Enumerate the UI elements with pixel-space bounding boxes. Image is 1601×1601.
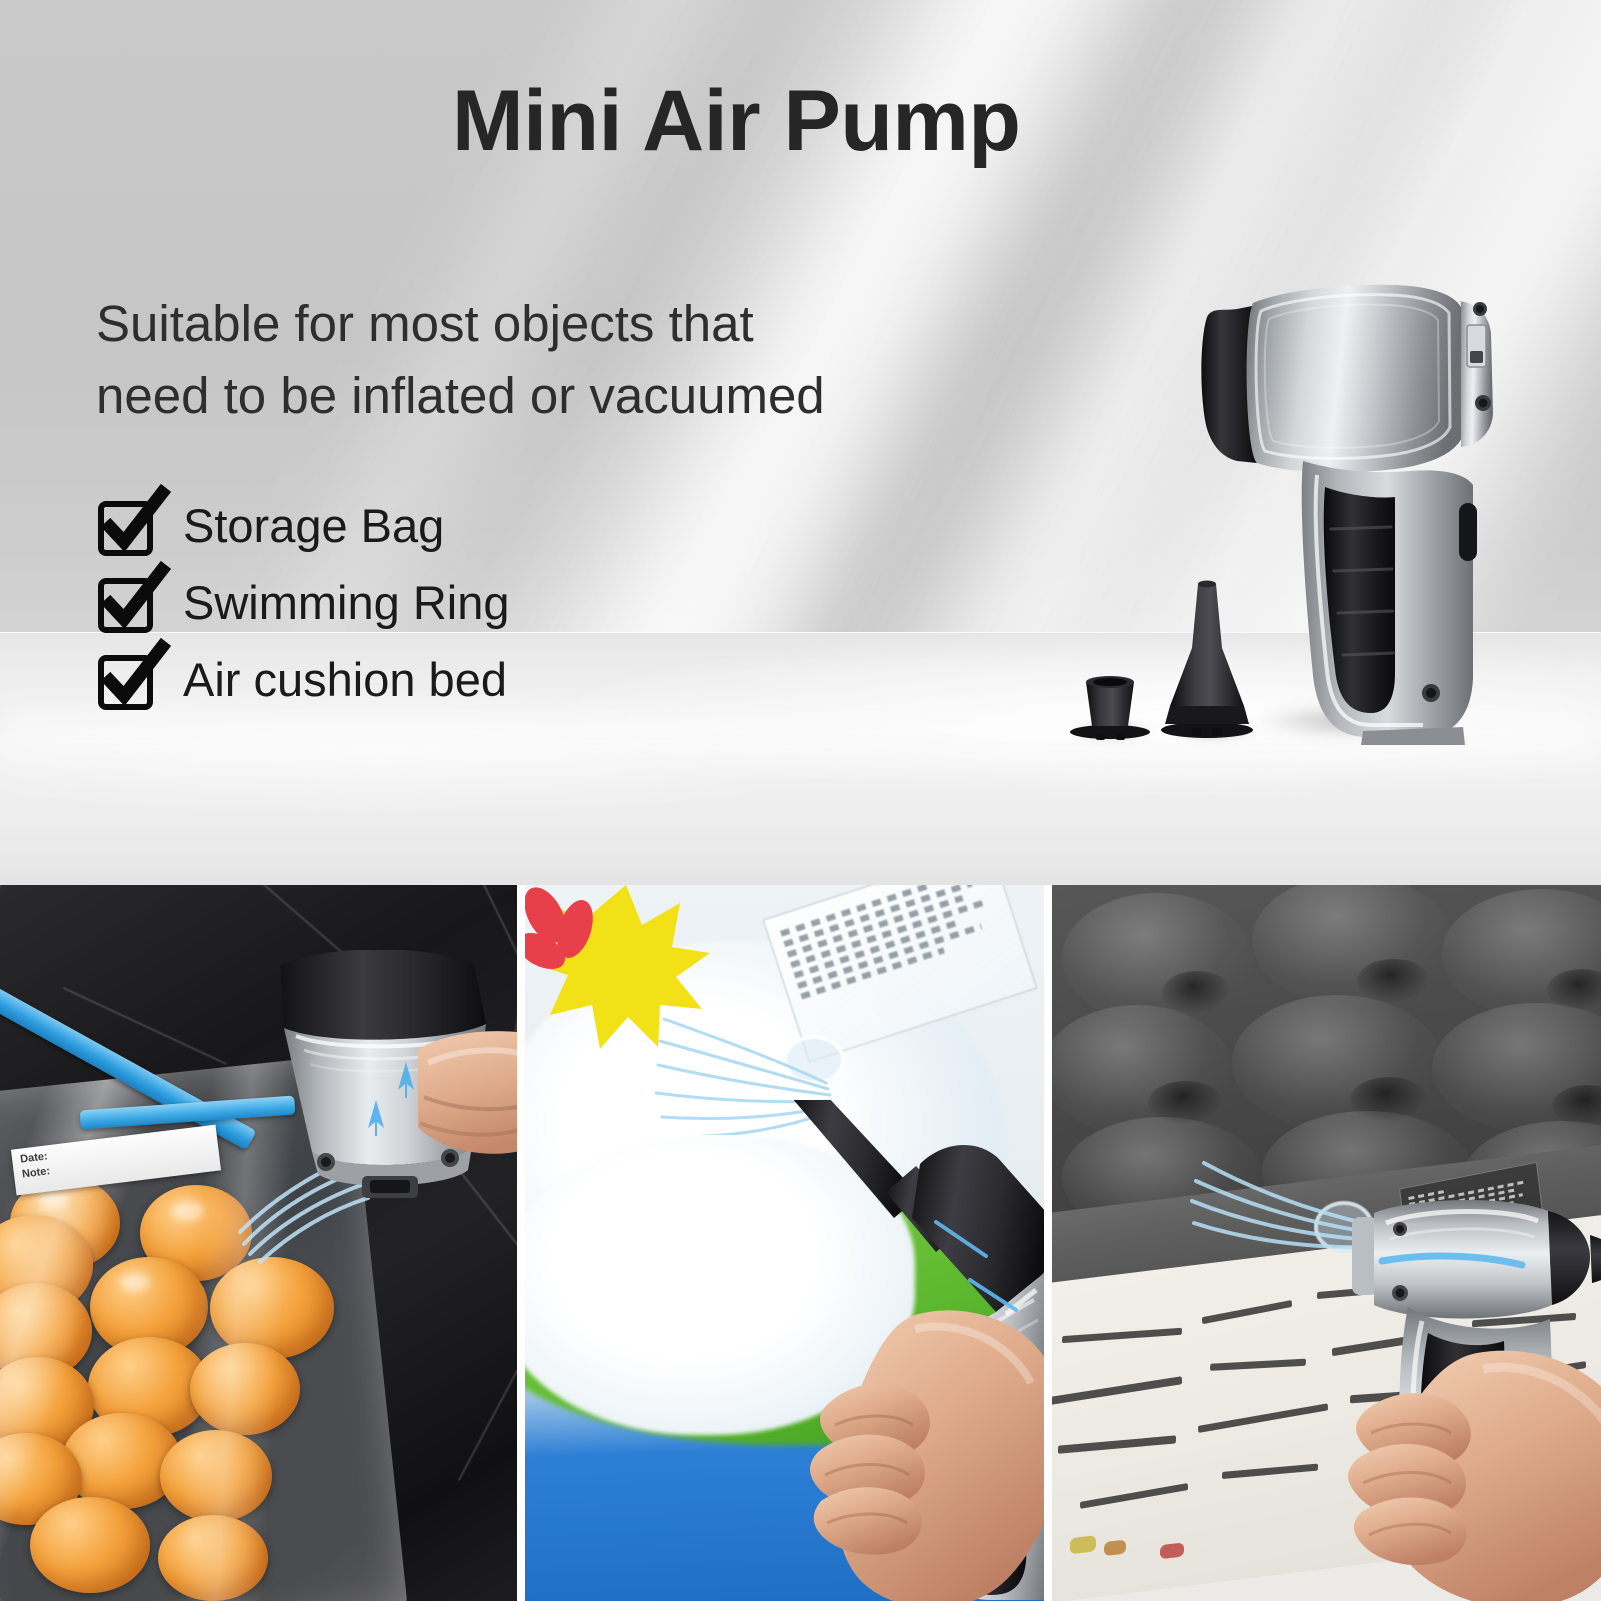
checklist-item-label: Storage Bag xyxy=(183,502,444,549)
rug-color-fleck xyxy=(1160,1542,1184,1559)
rug-pattern-mark xyxy=(1198,1403,1328,1433)
checkbox-checked-icon xyxy=(100,576,153,629)
checklist-item-label: Air cushion bed xyxy=(183,656,507,703)
fruit-glint xyxy=(38,1191,68,1209)
mattress-tuft xyxy=(1350,1077,1428,1123)
hand-holding-pump xyxy=(1347,1345,1601,1601)
checklist-item-label: Swimming Ring xyxy=(183,579,509,626)
checkbox-checked-icon xyxy=(100,653,153,706)
page-title: Mini Air Pump xyxy=(452,72,1020,171)
apricot xyxy=(190,1343,300,1435)
mini-air-pump-device xyxy=(1195,275,1535,745)
checklist-item-swimming-ring: Swimming Ring xyxy=(100,564,509,641)
swimming-ring-inflate-photo xyxy=(525,885,1044,1601)
rug-color-fleck xyxy=(1070,1535,1096,1554)
fruit-glint xyxy=(120,1273,150,1291)
mattress-tuft xyxy=(1162,971,1232,1015)
rug-pattern-mark xyxy=(1080,1483,1188,1509)
flower-graphic xyxy=(525,885,625,1005)
rug-pattern-mark xyxy=(1058,1435,1176,1453)
hand-holding-pump xyxy=(795,1285,1044,1601)
checklist-item-storage-bag: Storage Bag xyxy=(100,487,509,564)
checkbox-checked-icon xyxy=(100,499,153,552)
short-cone-nozzle xyxy=(1062,668,1158,740)
usage-photo-strip: Date: Note: xyxy=(0,885,1601,1601)
hero-subtitle-line1: Suitable for most objects that xyxy=(96,288,825,360)
hero-subtitle-line2: need to be inflated or vacuumed xyxy=(96,360,825,432)
mattress-tuft xyxy=(1357,959,1431,1003)
fruit-glint xyxy=(172,1201,204,1221)
rug-pattern-mark xyxy=(1202,1300,1292,1324)
air-cushion-bed-inflate-photo xyxy=(1052,885,1601,1601)
hand-holding-pump xyxy=(418,1025,517,1175)
storage-bag-vacuum-photo: Date: Note: xyxy=(0,885,517,1601)
checklist-item-air-cushion-bed: Air cushion bed xyxy=(100,641,509,718)
hero-subtitle: Suitable for most objects that need to b… xyxy=(96,288,825,433)
float-air-valve xyxy=(783,1035,845,1085)
rug-pattern-mark xyxy=(1222,1464,1318,1479)
rug-pattern-mark xyxy=(1210,1359,1306,1371)
mattress-tuft xyxy=(1148,1081,1224,1125)
hero-banner: Mini Air Pump Suitable for most objects … xyxy=(0,0,1601,885)
apricot xyxy=(30,1497,150,1593)
feature-checklist: Storage Bag Swimming Ring Air cushion be… xyxy=(100,487,509,718)
apricot xyxy=(160,1430,272,1522)
rug-pattern-mark xyxy=(1062,1328,1182,1343)
apricot xyxy=(210,1257,334,1359)
rug-pattern-mark xyxy=(1052,1376,1182,1406)
rug-color-fleck xyxy=(1104,1539,1126,1556)
apricot xyxy=(158,1515,268,1601)
